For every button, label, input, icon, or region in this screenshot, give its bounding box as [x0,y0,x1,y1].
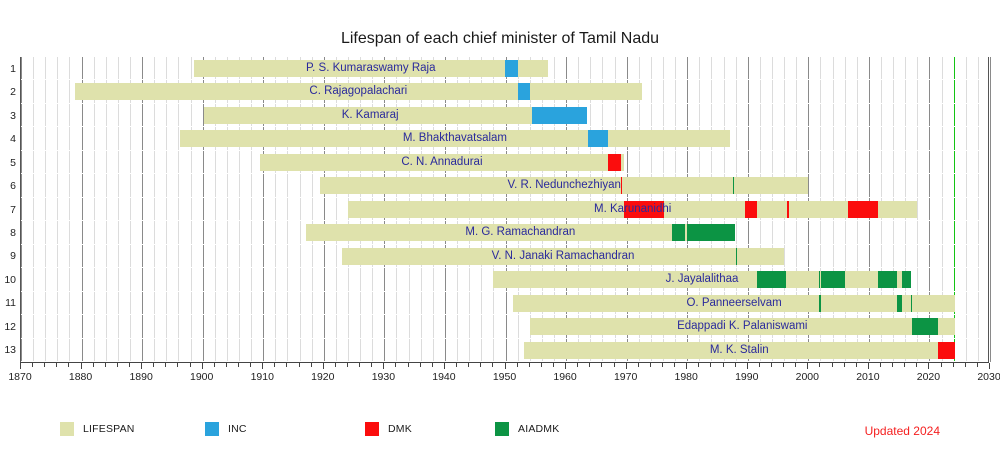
page-title: Lifespan of each chief minister of Tamil… [0,30,1000,48]
term-segment-aiadmk[interactable] [902,271,911,288]
y-axis-tick-11: 11 [0,298,16,308]
x-tick-minor [577,363,578,367]
x-tick-major [505,363,506,369]
legend-item-aiadmk[interactable]: AIADMK [495,418,559,440]
x-tick-minor [347,363,348,367]
term-segment-aiadmk[interactable] [911,295,912,312]
chart-row: M. K. Stalin [21,339,988,362]
x-tick-minor [832,363,833,367]
term-segment-aiadmk[interactable] [821,271,845,288]
legend-label: LIFESPAN [83,423,135,435]
x-tick-minor [395,363,396,367]
x-tick-minor [783,363,784,367]
x-tick-minor [735,363,736,367]
x-tick-minor [299,363,300,367]
chart-row: V. N. Janaki Ramachandran [21,245,988,268]
x-tick-major [323,363,324,369]
x-tick-minor [129,363,130,367]
lifespan-bar[interactable] [320,177,808,194]
x-tick-major [868,363,869,369]
x-tick-minor [904,363,905,367]
chart-row: P. S. Kumaraswamy Raja [21,57,988,80]
x-tick-minor [844,363,845,367]
term-segment-inc[interactable] [532,107,587,124]
lifespan-bar[interactable] [342,248,784,265]
term-segment-aiadmk[interactable] [736,248,737,265]
x-tick-major [202,363,203,369]
x-tick-minor [674,363,675,367]
lifespan-bar[interactable] [513,295,955,312]
chart-row: M. G. Ramachandran [21,221,988,244]
x-tick-label-1900: 1900 [190,371,213,383]
legend-swatch-icon [60,422,74,436]
legend-item-inc[interactable]: INC [205,418,247,440]
x-tick-minor [420,363,421,367]
x-tick-minor [941,363,942,367]
x-tick-minor [214,363,215,367]
y-axis-tick-12: 12 [0,322,16,332]
x-tick-minor [456,363,457,367]
x-tick-label-1890: 1890 [129,371,152,383]
x-tick-label-1940: 1940 [432,371,455,383]
x-tick-minor [529,363,530,367]
x-tick-minor [977,363,978,367]
x-tick-label-2010: 2010 [856,371,879,383]
x-tick-label-1970: 1970 [614,371,637,383]
x-tick-minor [432,363,433,367]
chart-row: J. Jayalalithaa [21,268,988,291]
x-tick-minor [614,363,615,367]
term-segment-dmk[interactable] [624,201,664,218]
lifespan-bar[interactable] [204,107,536,124]
x-tick-minor [601,363,602,367]
x-tick-minor [93,363,94,367]
term-segment-aiadmk[interactable] [897,295,901,312]
y-axis-tick-7: 7 [0,205,16,215]
x-tick-label-1880: 1880 [69,371,92,383]
x-tick-minor [662,363,663,367]
x-tick-label-2020: 2020 [917,371,940,383]
x-tick-major [928,363,929,369]
x-tick-minor [286,363,287,367]
lifespan-bar[interactable] [180,130,729,147]
term-segment-inc[interactable] [588,130,609,147]
lifespan-bar[interactable] [348,201,917,218]
chart-row: K. Kamaraj [21,104,988,127]
x-tick-minor [56,363,57,367]
x-tick-minor [359,363,360,367]
chart-row: O. Panneerselvam [21,292,988,315]
term-segment-inc[interactable] [505,60,517,77]
x-tick-major [141,363,142,369]
term-segment-aiadmk[interactable] [687,224,735,241]
term-segment-dmk[interactable] [848,201,878,218]
chart-row: V. R. Nedunchezhiyan [21,174,988,197]
x-tick-label-1910: 1910 [251,371,274,383]
chart-row: M. Bhakthavatsalam [21,127,988,150]
x-tick-label-1980: 1980 [675,371,698,383]
x-tick-label-1960: 1960 [553,371,576,383]
lifespan-bar[interactable] [530,318,955,335]
y-axis-tick-2: 2 [0,87,16,97]
x-tick-minor [965,363,966,367]
term-segment-aiadmk[interactable] [819,295,821,312]
term-segment-dmk[interactable] [621,177,622,194]
chart-row: C. Rajagopalachari [21,80,988,103]
x-tick-label-1920: 1920 [311,371,334,383]
term-segment-inc[interactable] [518,83,530,100]
x-tick-minor [698,363,699,367]
term-segment-dmk[interactable] [745,201,757,218]
lifespan-bar[interactable] [194,60,548,77]
x-tick-minor [819,363,820,367]
lifespan-bar[interactable] [493,271,910,288]
term-segment-aiadmk[interactable] [733,177,734,194]
x-tick-minor [795,363,796,367]
updated-note: Updated 2024 [865,424,940,438]
term-segment-aiadmk[interactable] [819,271,820,288]
x-tick-minor [335,363,336,367]
x-tick-label-1930: 1930 [372,371,395,383]
x-tick-minor [723,363,724,367]
x-tick-major [383,363,384,369]
legend-label: AIADMK [518,423,559,435]
chart-row: C. N. Annadurai [21,151,988,174]
legend-swatch-icon [365,422,379,436]
x-tick-minor [32,363,33,367]
y-axis-tick-8: 8 [0,228,16,238]
x-tick-minor [541,363,542,367]
x-tick-minor [916,363,917,367]
x-tick-minor [105,363,106,367]
x-tick-minor [953,363,954,367]
lifespan-bar[interactable] [75,83,642,100]
x-tick-label-2000: 2000 [796,371,819,383]
x-tick-minor [153,363,154,367]
x-tick-minor [68,363,69,367]
x-tick-minor [589,363,590,367]
y-axis-tick-3: 3 [0,111,16,121]
x-tick-major [444,363,445,369]
x-tick-minor [311,363,312,367]
x-tick-minor [408,363,409,367]
legend-swatch-icon [495,422,509,436]
x-tick-major [807,363,808,369]
x-tick-minor [226,363,227,367]
x-tick-major [989,363,990,369]
chart-row: Edappadi K. Palaniswami [21,315,988,338]
chart-row: M. Karunanidhi [21,198,988,221]
lifespan-bar[interactable] [260,154,623,171]
y-axis-tick-5: 5 [0,158,16,168]
x-tick-minor [44,363,45,367]
x-tick-minor [250,363,251,367]
x-tick-minor [492,363,493,367]
term-segment-aiadmk[interactable] [878,271,897,288]
x-tick-label-1950: 1950 [493,371,516,383]
x-tick-minor [638,363,639,367]
x-tick-minor [650,363,651,367]
y-axis-tick-13: 13 [0,345,16,355]
x-tick-major [747,363,748,369]
y-axis-tick-10: 10 [0,275,16,285]
x-tick-minor [468,363,469,367]
term-segment-aiadmk[interactable] [757,271,787,288]
x-tick-minor [880,363,881,367]
term-segment-dmk[interactable] [938,342,955,359]
x-tick-minor [117,363,118,367]
gridline-major [990,57,991,362]
x-tick-minor [517,363,518,367]
legend-label: DMK [388,423,412,435]
legend-label: INC [228,423,247,435]
lifespan-bar[interactable] [524,342,955,359]
y-axis-tick-9: 9 [0,251,16,261]
chart-plot-area: P. S. Kumaraswamy RajaC. Rajagopalachari… [20,57,989,362]
x-tick-major [81,363,82,369]
lifespan-bar[interactable] [306,224,735,241]
legend-item-dmk[interactable]: DMK [365,418,412,440]
x-tick-minor [238,363,239,367]
x-tick-minor [771,363,772,367]
x-tick-minor [892,363,893,367]
y-axis-tick-4: 4 [0,134,16,144]
y-axis-tick-6: 6 [0,181,16,191]
x-tick-minor [177,363,178,367]
x-tick-minor [759,363,760,367]
x-tick-label-1990: 1990 [735,371,758,383]
x-tick-minor [710,363,711,367]
x-tick-label-2030: 2030 [977,371,1000,383]
x-tick-minor [165,363,166,367]
term-segment-dmk[interactable] [608,154,620,171]
x-tick-minor [274,363,275,367]
term-segment-aiadmk[interactable] [672,224,685,241]
chart-legend: LIFESPANINCDMKAIADMK [0,418,1000,450]
x-tick-minor [480,363,481,367]
term-segment-dmk[interactable] [787,201,789,218]
x-tick-major [626,363,627,369]
x-tick-minor [856,363,857,367]
legend-swatch-icon [205,422,219,436]
x-tick-minor [190,363,191,367]
term-segment-aiadmk[interactable] [912,318,937,335]
y-axis-tick-1: 1 [0,64,16,74]
legend-item-lifespan[interactable]: LIFESPAN [60,418,135,440]
x-tick-minor [371,363,372,367]
x-tick-major [686,363,687,369]
x-tick-major [20,363,21,369]
x-tick-major [565,363,566,369]
x-tick-minor [553,363,554,367]
x-tick-label-1870: 1870 [8,371,31,383]
x-tick-major [262,363,263,369]
